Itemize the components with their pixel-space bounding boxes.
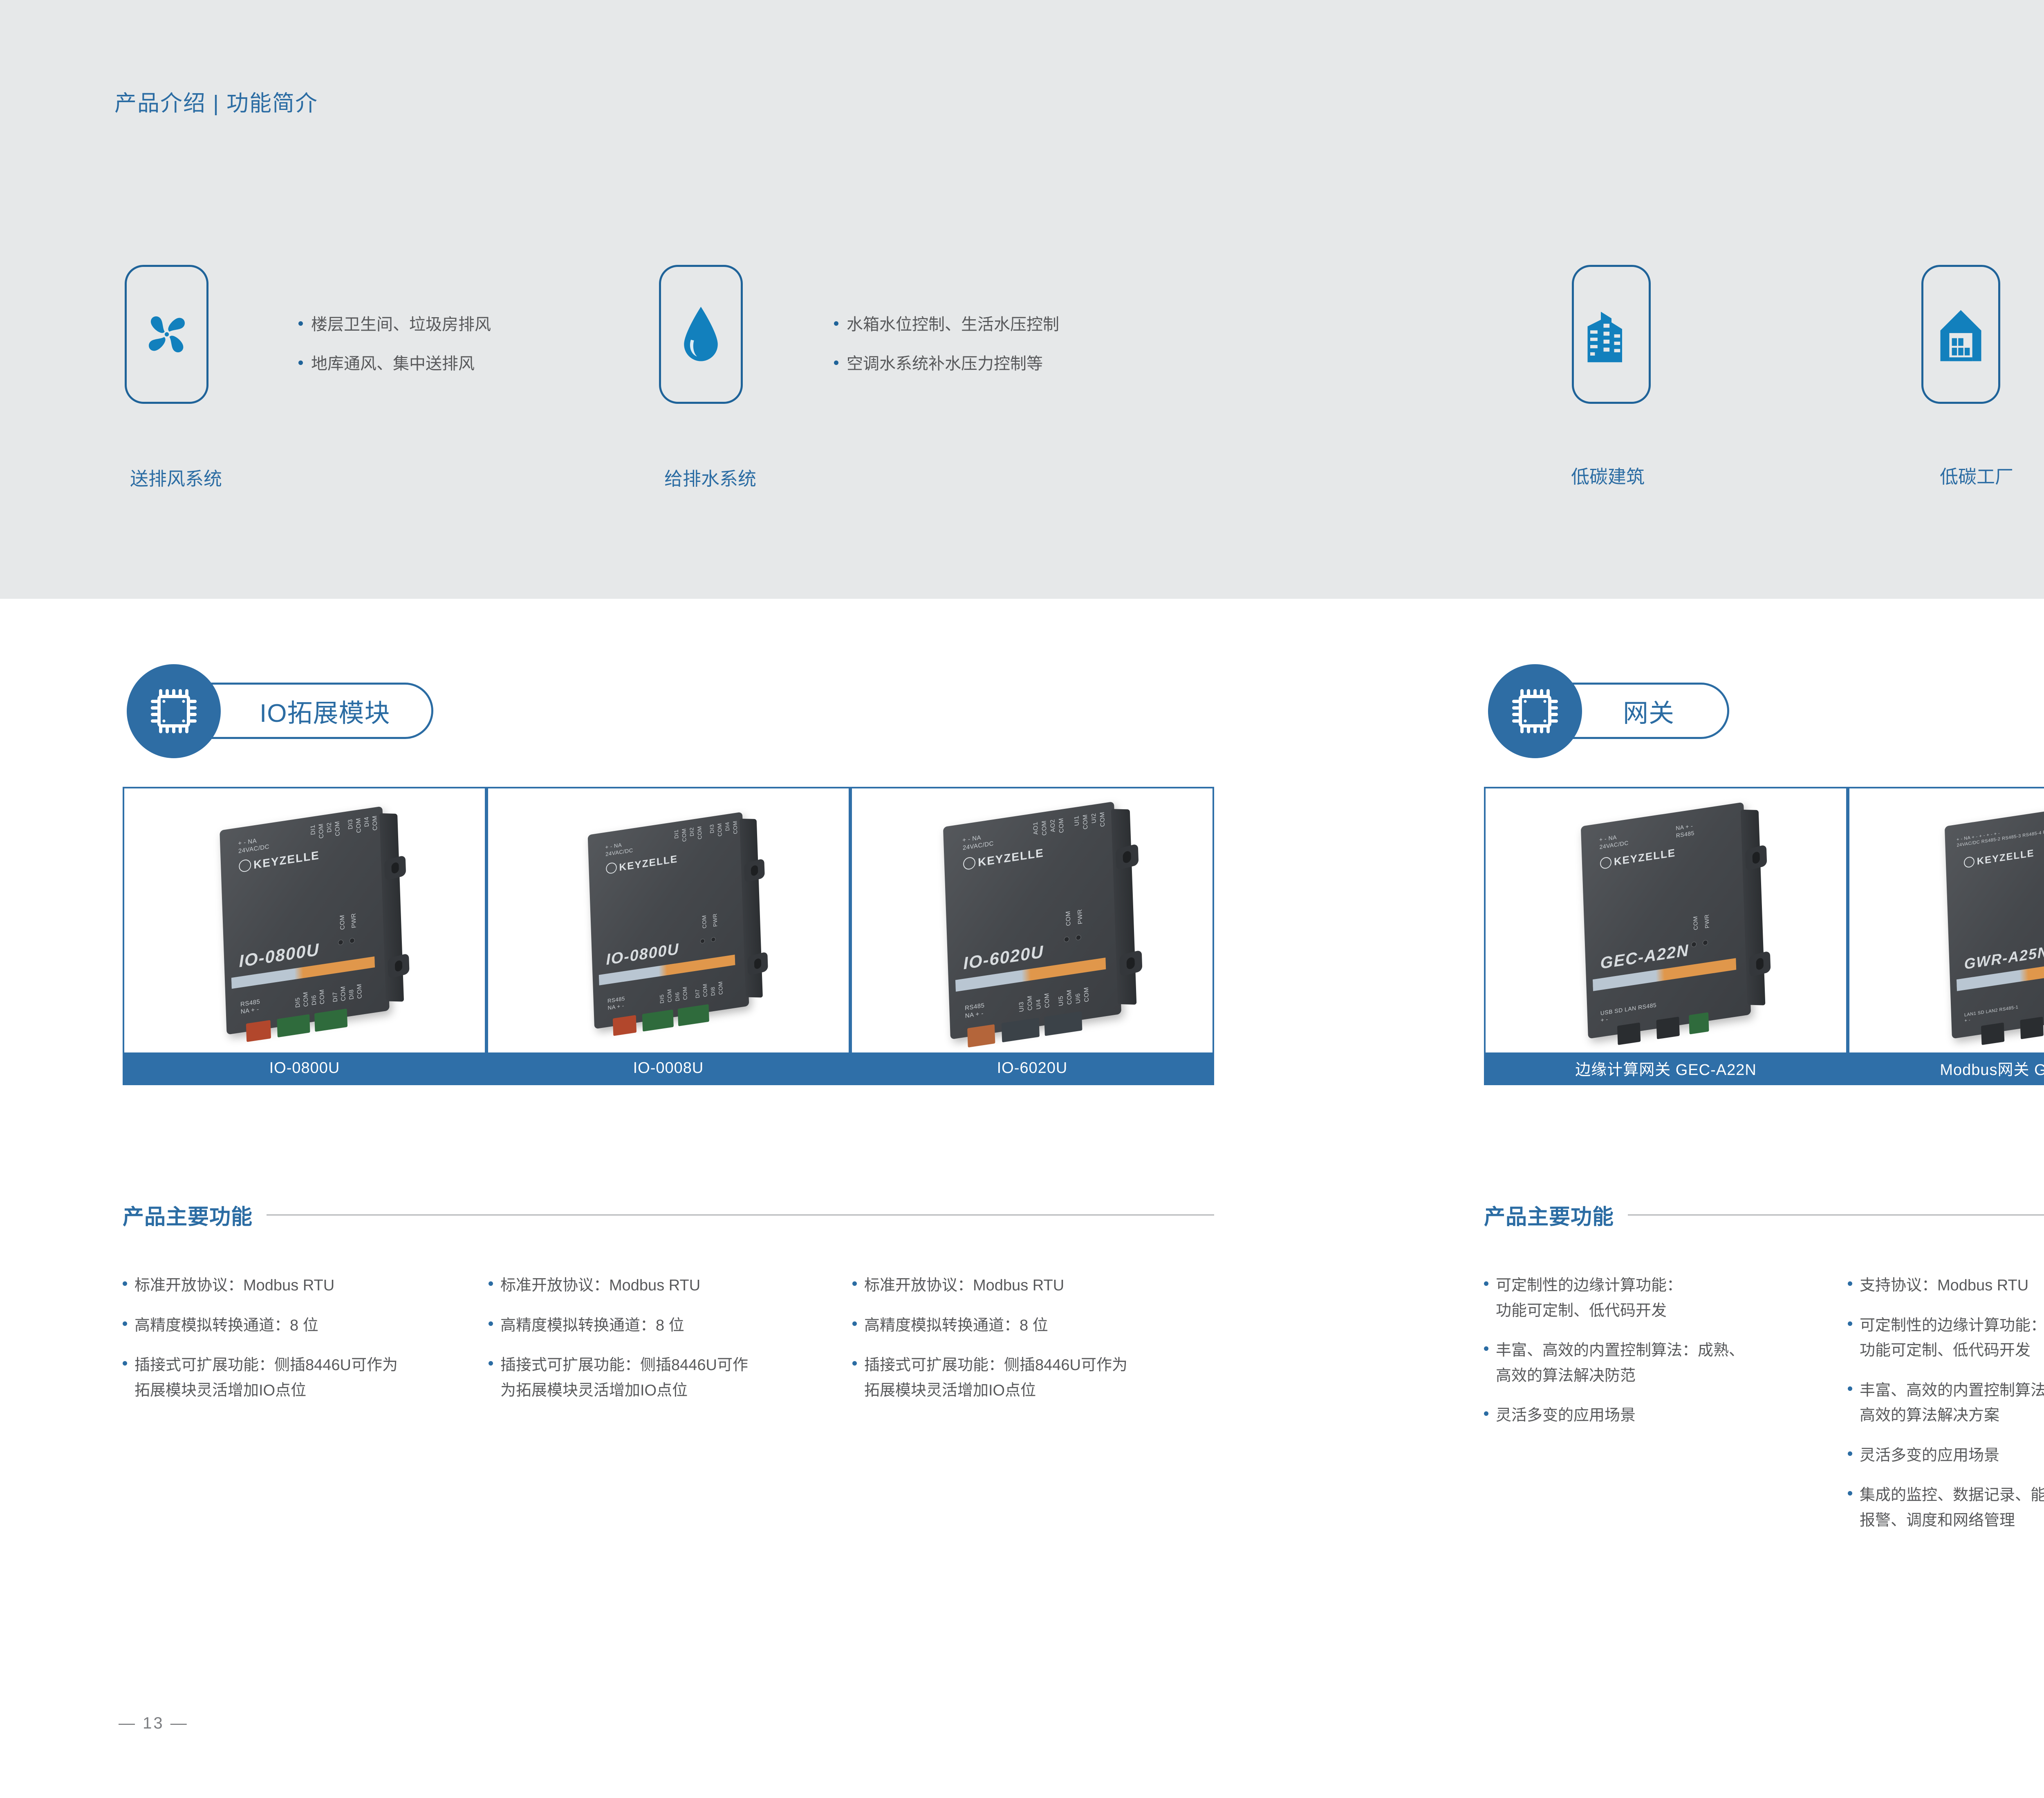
bullet-dot: [1484, 1346, 1488, 1351]
port-label: COM: [717, 981, 724, 995]
water-drop-icon: [675, 304, 726, 365]
features-title: 产品主要功能: [1484, 1200, 1614, 1230]
lan-port: [2020, 1017, 2043, 1039]
bullet-dot: [1848, 1491, 1852, 1496]
device-bottom-label: USB SD LAN RS485 + -: [1600, 1001, 1657, 1024]
features-column: 可定制性的边缘计算功能： 功能可定制、低代码开发 丰富、高效的内置控制算法：成熟…: [1484, 1273, 1823, 1443]
led-label: COM: [701, 915, 707, 929]
scene-label-factory: 低碳工厂: [1940, 462, 2013, 488]
feature-item: 集成的监控、数据记录、能耗计量、 报警、调度和网络管理: [1848, 1483, 2044, 1533]
bullet-dot: [834, 360, 838, 365]
terminal-block: [277, 1014, 310, 1037]
bullet-dot: [298, 321, 303, 326]
port-label: COM: [302, 991, 309, 1007]
port-label: COM: [666, 988, 672, 1003]
port-label: DI3: [708, 824, 715, 834]
product-caption: IO-0008U: [488, 1052, 849, 1084]
led-com: [1064, 936, 1069, 943]
header-title-left: 产品介绍 | 功能简介: [114, 85, 318, 117]
port-label: COM: [696, 826, 703, 840]
app-label-water: 给排水系统: [664, 464, 756, 490]
bullet-dot: [834, 321, 838, 326]
bullet-dot: [852, 1321, 857, 1326]
port-label: DI1: [673, 829, 679, 839]
device-top-label: + - NA 24VAC/DC: [605, 840, 633, 858]
port-label: COM: [1099, 811, 1106, 827]
feature-item: 插接式可扩展功能：侧插8446U可作 为拓展模块灵活增加IO点位: [489, 1353, 840, 1403]
bullet-item: 楼层卫生间、垃圾房排风: [298, 315, 491, 334]
led-pwr: [1076, 934, 1081, 940]
terminal-block: [613, 1015, 637, 1036]
port-label: DI5: [659, 994, 665, 1004]
feature-item: 可定制性的边缘计算功能： 功能可定制、低代码开发: [1848, 1313, 2044, 1364]
bullet-item: 地库通风、集中送排风: [298, 354, 491, 374]
product-image: + - NA 24VAC/DC NA + - RS485 KEYZELLE GE…: [1486, 788, 1846, 1052]
product-caption: IO-6020U: [852, 1052, 1213, 1084]
brand-logo: KEYZELLE: [1964, 847, 2035, 870]
feature-item: 标准开放协议：Modbus RTU: [852, 1273, 1204, 1299]
led-pwr: [350, 938, 355, 944]
port-label: UI5: [1057, 995, 1065, 1006]
features-title: 产品主要功能: [123, 1200, 253, 1230]
terminal-block: [1689, 1012, 1709, 1034]
feature-item: 插接式可扩展功能：侧插8446U可作为 拓展模块灵活增加IO点位: [852, 1353, 1204, 1403]
port-label: COM: [334, 821, 341, 837]
product-card[interactable]: + - NA 24VAC/DC DI1 COM DI2 COM DI3 COM …: [486, 787, 850, 1085]
app-bullets-ventilation: 楼层卫生间、垃圾房排风 地库通风、集中送排风: [298, 315, 491, 393]
port-label: COM: [340, 985, 347, 1001]
port-label: COM: [1082, 814, 1089, 830]
bullet-dot: [1848, 1321, 1852, 1326]
feature-item: 插接式可扩展功能：侧插8446U可作为 拓展模块灵活增加IO点位: [123, 1353, 474, 1403]
bullet-dot: [489, 1361, 493, 1366]
product-image: + - NA 24VAC/DC AO1 COM AO2 COM UI1 COM …: [852, 788, 1213, 1052]
port-label: COM: [371, 815, 379, 831]
port-label: COM: [732, 820, 738, 835]
port-label: COM: [318, 823, 325, 839]
port-label: COM: [355, 817, 362, 833]
device-top-label: + - NA + - + - + - + - 24VAC/DC RS485-2 …: [1957, 822, 2044, 849]
scene-tile-factory: [1921, 265, 2000, 404]
product-caption: 边缘计算网关 GEC-A22N: [1486, 1052, 1846, 1084]
port-label: UI1: [1073, 815, 1080, 826]
port-label: COM: [716, 823, 723, 837]
app-label-ventilation: 送排风系统: [130, 464, 222, 490]
port-label: COM: [1066, 989, 1073, 1005]
bullet-item: 水箱水位控制、生活水压控制: [834, 315, 1059, 334]
port-label: DI8: [710, 986, 716, 996]
port-label: COM: [702, 983, 708, 997]
terminal-block: [246, 1020, 271, 1042]
device-top-right-label: NA + - RS485: [1676, 822, 1694, 840]
features-column: 标准开放协议：Modbus RTU 高精度模拟转换通道：8 位 插接式可扩展功能…: [852, 1273, 1204, 1418]
led-pwr: [1703, 940, 1708, 946]
led-label: PWR: [1703, 914, 1710, 929]
top-application-band: 产品介绍 | 功能简介 产品介绍 | 功能简介 送排风系统 楼层卫生间、垃圾房排…: [0, 0, 2044, 599]
bullet-dot: [1484, 1281, 1488, 1286]
product-image: + - NA 24VAC/DC DI1 COM DI2 COM DI3 COM …: [124, 788, 485, 1052]
led-label: PWR: [350, 913, 357, 929]
feature-item: 丰富、高效的内置控制算法：成熟、 高效的算法解决方案: [1848, 1378, 2044, 1429]
bullet-item: 空调水系统补水压力控制等: [834, 354, 1059, 374]
port-label: COM: [1041, 820, 1048, 836]
device-top-label: + - NA 24VAC/DC: [1599, 832, 1629, 851]
usb-port: [1617, 1023, 1641, 1045]
feature-item: 高精度模拟转换通道：8 位: [489, 1313, 840, 1339]
port-label: DI5: [294, 997, 302, 1008]
products-area: IO拓展模块: [0, 599, 2044, 1798]
app-tile-ventilation: [125, 265, 208, 404]
terminal-block: [1002, 1018, 1040, 1043]
port-label: COM: [1083, 987, 1090, 1003]
terminal-block: [678, 1004, 709, 1026]
port-label: DI4: [724, 822, 731, 831]
terminal-block: [967, 1024, 995, 1048]
brand-logo: KEYZELLE: [606, 853, 678, 875]
product-card[interactable]: + - NA 24VAC/DC AO1 COM AO2 COM UI1 COM …: [850, 787, 1214, 1085]
port-label: DI4: [363, 816, 370, 827]
device-bottom-label: LAN1 SD LAN2 RS485-1 + -: [1964, 1005, 2019, 1024]
header-rule: [267, 1214, 1214, 1216]
led-com: [700, 938, 705, 944]
feature-item: 丰富、高效的内置控制算法：成熟、 高效的算法解决防范: [1484, 1338, 1823, 1388]
features-column: 支持协议：Modbus RTU 可定制性的边缘计算功能： 功能可定制、低代码开发…: [1848, 1273, 2044, 1548]
bullet-dot: [1848, 1451, 1852, 1456]
port-label: COM: [1026, 995, 1033, 1011]
scene-label-building: 低碳建筑: [1571, 462, 1645, 488]
led-label: COM: [1692, 916, 1699, 931]
led-com: [1691, 941, 1697, 947]
chip-icon: [1509, 685, 1561, 737]
product-card[interactable]: + - NA + - + - + - + - 24VAC/DC RS485-2 …: [1848, 787, 2044, 1085]
feature-item: 标准开放协议：Modbus RTU: [489, 1273, 840, 1299]
features-column: 标准开放协议：Modbus RTU 高精度模拟转换通道：8 位 插接式可扩展功能…: [489, 1273, 840, 1418]
device-bottom-label: RS485 NA + -: [240, 998, 260, 1017]
bullet-dot: [489, 1281, 493, 1286]
product-caption: IO-0800U: [124, 1052, 485, 1084]
port-label: DI3: [347, 819, 354, 830]
device-top-label: + - NA 24VAC/DC: [238, 835, 269, 855]
terminal-block: [1044, 1011, 1083, 1036]
port-label: DI6: [310, 994, 318, 1005]
led-label: PWR: [712, 913, 718, 927]
page-number-left: — 13 —: [119, 1714, 188, 1733]
port-label: DI7: [694, 989, 701, 999]
port-label: DI7: [332, 992, 339, 1003]
led-pwr: [711, 937, 716, 942]
port-label: AO1: [1032, 821, 1040, 835]
port-label: DI6: [674, 992, 681, 1001]
feature-item: 标准开放协议：Modbus RTU: [123, 1273, 474, 1299]
lan-port: [1981, 1023, 2004, 1045]
port-label: UI6: [1074, 993, 1082, 1004]
port-label: COM: [681, 828, 687, 842]
led-label: PWR: [1076, 909, 1084, 925]
port-label: DI2: [326, 822, 333, 833]
office-building-icon: [1585, 304, 1638, 365]
port-label: UI2: [1090, 813, 1098, 824]
section-badge-io: IO拓展模块: [127, 664, 437, 758]
chip-icon: [148, 685, 200, 737]
port-label: DI8: [348, 989, 355, 1000]
port-label: COM: [318, 989, 326, 1005]
port-label: COM: [681, 986, 688, 1001]
chip-icon-circle: [127, 664, 221, 758]
terminal-block: [642, 1010, 674, 1032]
product-card[interactable]: + - NA 24VAC/DC DI1 COM DI2 COM DI3 COM …: [123, 787, 486, 1085]
device-bottom-label: RS485 NA + -: [965, 1002, 985, 1020]
feature-item: 可定制性的边缘计算功能： 功能可定制、低代码开发: [1484, 1273, 1823, 1323]
led-label: COM: [339, 914, 346, 930]
product-image: + - NA + - + - + - + - 24VAC/DC RS485-2 …: [1849, 788, 2044, 1052]
brochure-page: 产品介绍 | 功能简介 产品介绍 | 功能简介 送排风系统 楼层卫生间、垃圾房排…: [0, 0, 2044, 1798]
port-label: COM: [1043, 992, 1051, 1008]
app-bullets-water: 水箱水位控制、生活水压控制 空调水系统补水压力控制等: [834, 315, 1059, 393]
terminal-block: [314, 1009, 347, 1032]
features-header-io: 产品主要功能: [123, 1200, 1214, 1230]
lan-port: [1656, 1017, 1679, 1039]
port-label: DI2: [688, 827, 695, 837]
product-image: + - NA 24VAC/DC DI1 COM DI2 COM DI3 COM …: [488, 788, 849, 1052]
brand-mark-icon: [1964, 856, 1975, 869]
fan-icon: [140, 308, 193, 361]
brand-mark-icon: [606, 862, 617, 875]
bullet-dot: [489, 1321, 493, 1326]
brand-mark-icon: [1600, 856, 1612, 869]
brand-mark-icon: [239, 859, 251, 873]
bullet-dot: [852, 1281, 857, 1286]
app-tile-water: [659, 265, 743, 404]
bullet-dot: [1848, 1281, 1852, 1286]
feature-item: 高精度模拟转换通道：8 位: [852, 1313, 1204, 1339]
scene-tile-building: [1572, 265, 1651, 404]
bullet-dot: [123, 1361, 127, 1366]
bullet-dot: [123, 1321, 127, 1326]
port-label: DI1: [309, 824, 317, 835]
features-column: 标准开放协议：Modbus RTU 高精度模拟转换通道：8 位 插接式可扩展功能…: [123, 1273, 474, 1418]
port-label: COM: [356, 983, 363, 999]
feature-item: 灵活多变的应用场景: [1848, 1443, 2044, 1469]
bullet-dot: [1848, 1386, 1852, 1391]
feature-item: 支持协议：Modbus RTU: [1848, 1273, 2044, 1299]
port-label: UI4: [1035, 999, 1042, 1010]
chip-icon-circle: [1488, 664, 1582, 758]
bullet-dot: [1484, 1411, 1488, 1416]
port-label: COM: [1058, 817, 1065, 833]
product-caption: Modbus网关 GWR-A25N: [1849, 1052, 2044, 1084]
led-com: [338, 939, 343, 945]
feature-item: 高精度模拟转换通道：8 位: [123, 1313, 474, 1339]
header-rule: [1628, 1214, 2044, 1216]
device-bottom-label: RS485 NA + -: [607, 995, 625, 1012]
section-badge-gateway: 网关: [1488, 664, 1733, 758]
port-label: UI3: [1018, 1001, 1025, 1012]
port-label: AO2: [1049, 819, 1057, 833]
bullet-dot: [852, 1361, 857, 1366]
bullet-dot: [123, 1281, 127, 1286]
bullet-dot: [298, 360, 303, 365]
feature-item: 灵活多变的应用场景: [1484, 1403, 1823, 1429]
section-badge-label: IO拓展模块: [260, 692, 390, 729]
brand-mark-icon: [963, 856, 976, 870]
led-label: COM: [1065, 910, 1072, 926]
features-header-gateway: 产品主要功能: [1484, 1200, 2044, 1230]
brand-logo: KEYZELLE: [1600, 846, 1676, 871]
factory-icon: [1935, 304, 1986, 365]
device-top-label: + - NA 24VAC/DC: [962, 832, 994, 852]
section-badge-label: 网关: [1623, 692, 1674, 729]
product-card[interactable]: + - NA 24VAC/DC NA + - RS485 KEYZELLE GE…: [1484, 787, 1848, 1085]
